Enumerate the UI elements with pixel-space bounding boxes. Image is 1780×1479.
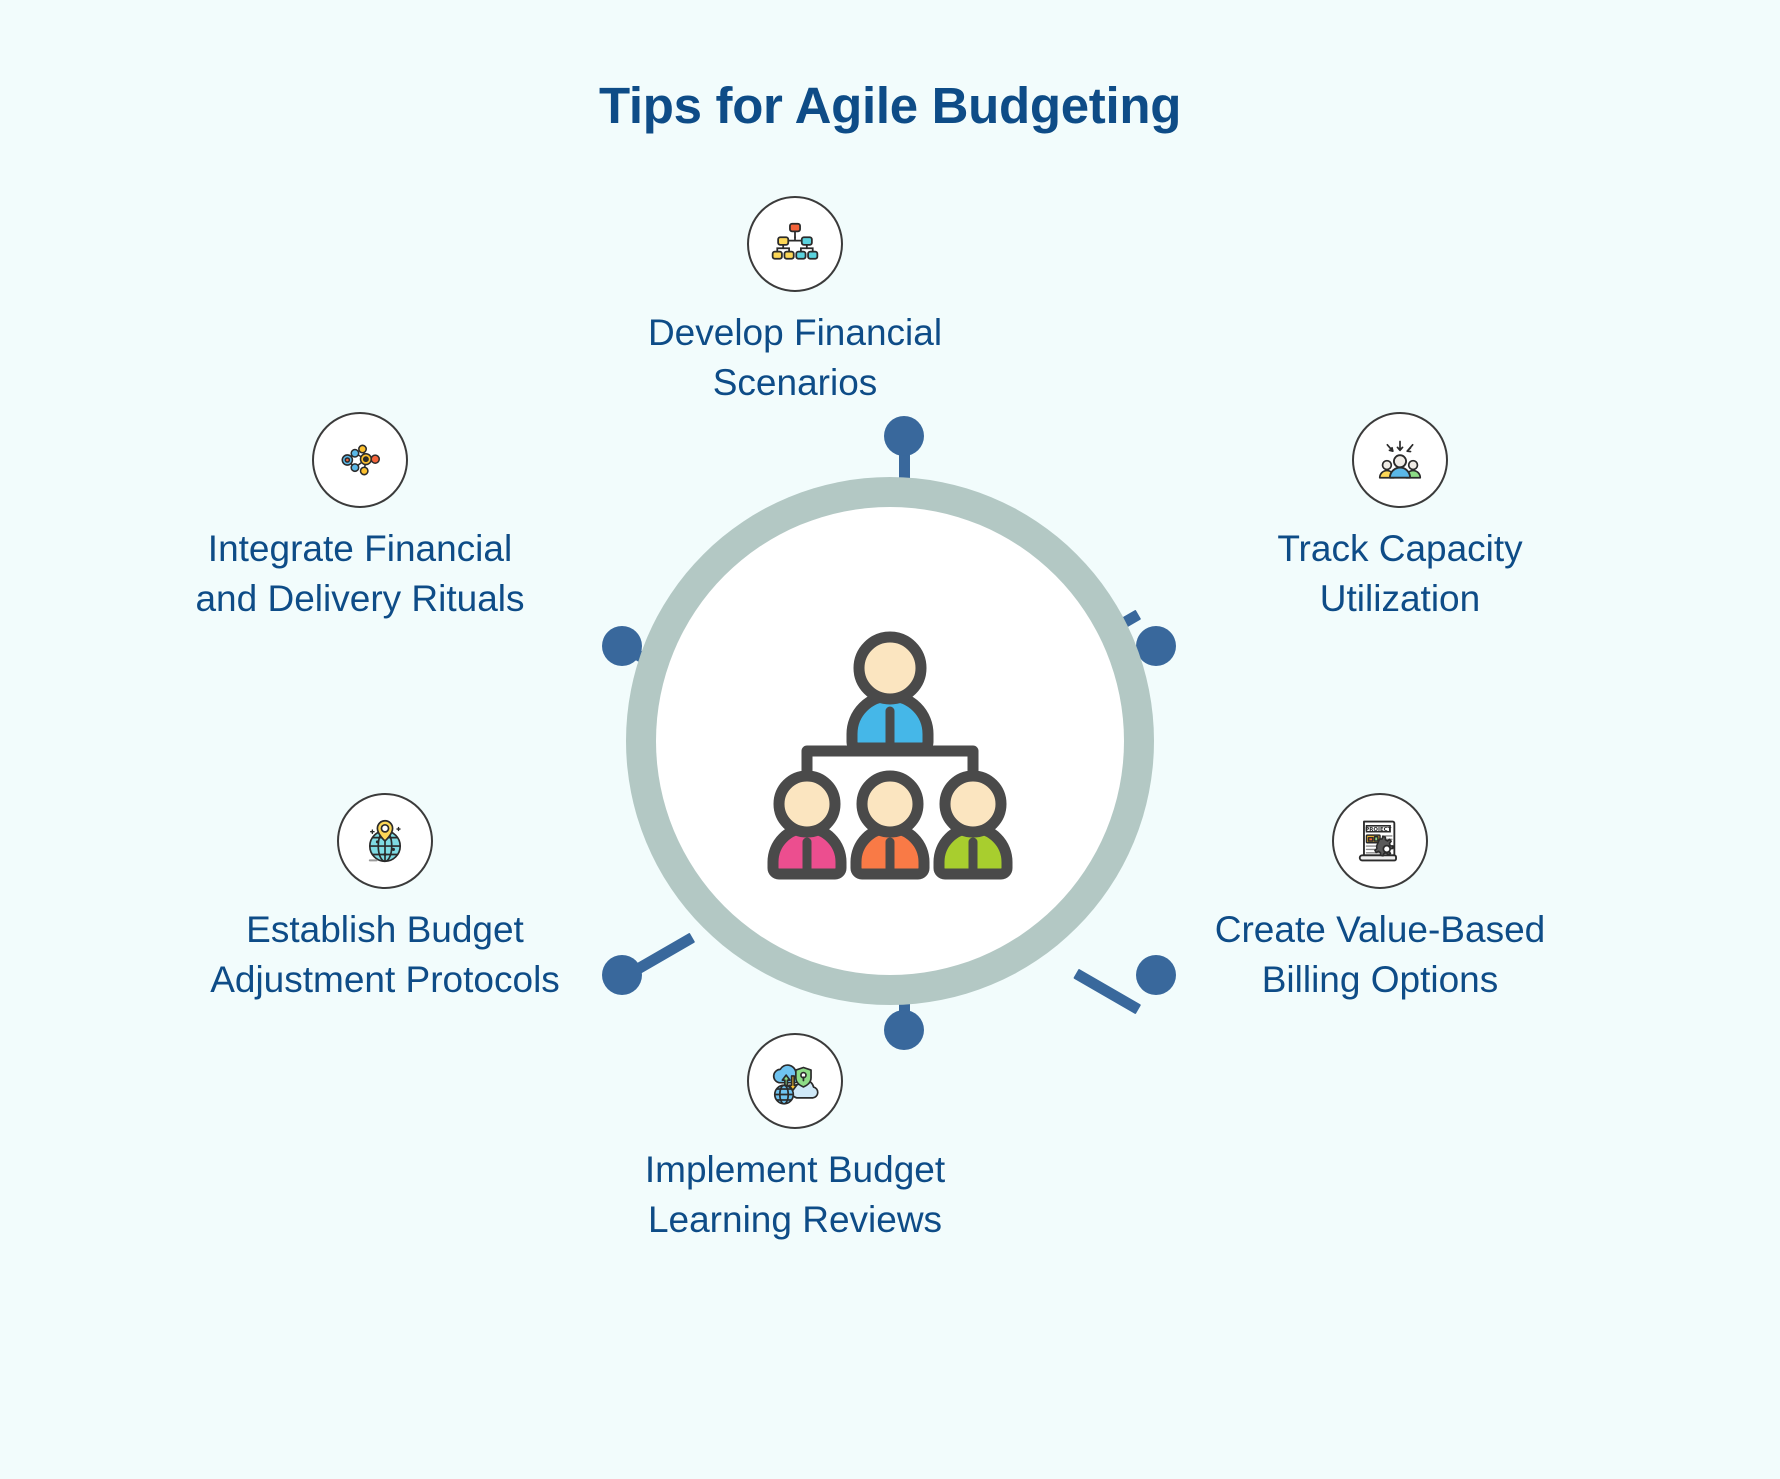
svg-text:PROJECT: PROJECT xyxy=(1365,827,1391,833)
node-label: Integrate Financial and Delivery Rituals xyxy=(195,524,525,624)
page-title: Tips for Agile Budgeting xyxy=(0,76,1780,135)
node-label: Create Value-Based Billing Options xyxy=(1210,905,1550,1005)
globe-location-pin-icon xyxy=(337,793,433,889)
node-label: Develop Financial Scenarios xyxy=(590,308,1000,408)
spoke-dot-top xyxy=(884,416,924,456)
network-nodes-icon xyxy=(312,412,408,508)
people-focus-arrows-icon xyxy=(1352,412,1448,508)
org-chart-people-icon xyxy=(745,596,1035,886)
hierarchy-tree-icon xyxy=(747,196,843,292)
node-label: Implement Budget Learning Reviews xyxy=(600,1145,990,1245)
spoke-dot-bottom xyxy=(884,1010,924,1050)
project-document-gear-icon: PROJECT xyxy=(1332,793,1428,889)
cloud-sync-shield-globe-icon xyxy=(747,1033,843,1129)
node-label: Track Capacity Utilization xyxy=(1235,524,1565,624)
node-label: Establish Budget Adjustment Protocols xyxy=(205,905,565,1005)
central-hub xyxy=(626,477,1154,1005)
